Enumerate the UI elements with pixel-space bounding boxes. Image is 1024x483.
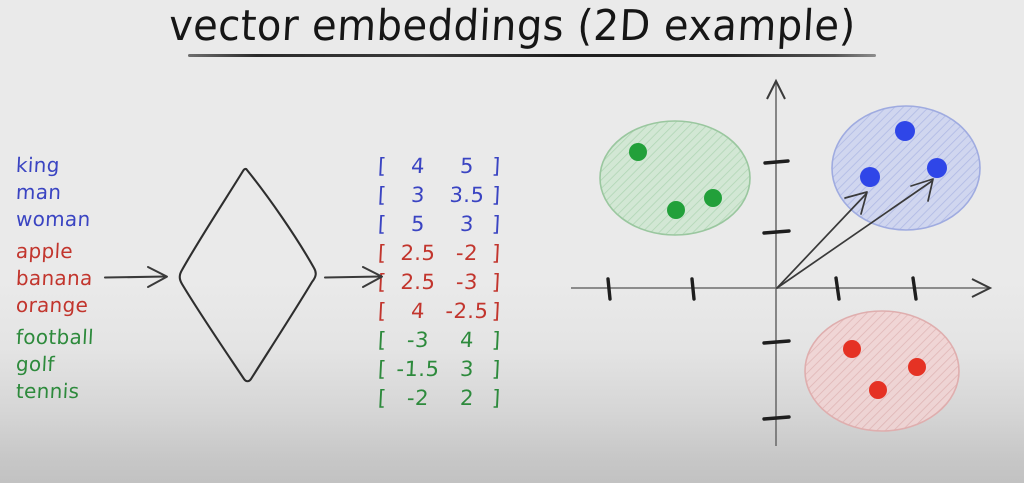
point-man (860, 167, 880, 187)
y-tick-4 (765, 161, 788, 163)
arrow-model-to-vectors (325, 267, 382, 287)
x-tick--4 (608, 279, 610, 299)
point-apple (843, 340, 861, 358)
x-tick-2 (836, 278, 839, 299)
point-golf (667, 201, 685, 219)
y-tick--2 (764, 341, 789, 343)
point-orange (908, 358, 926, 376)
x-tick-4 (913, 278, 916, 299)
arrow-words-to-model (105, 267, 167, 287)
point-football (629, 143, 647, 161)
y-tick--4 (764, 417, 789, 419)
embedding-model-diamond (180, 169, 316, 381)
point-king (895, 121, 915, 141)
y-tick-2 (764, 231, 789, 233)
point-woman (927, 158, 947, 178)
whiteboard-canvas: vector embeddings (2D example) kingmanwo… (0, 0, 1024, 483)
diagram-ink-layer (0, 0, 1024, 483)
red-cluster (805, 311, 959, 431)
vector-arrow-man (777, 192, 867, 288)
point-tennis (704, 189, 722, 207)
x-tick--2 (692, 279, 694, 299)
point-banana (869, 381, 887, 399)
